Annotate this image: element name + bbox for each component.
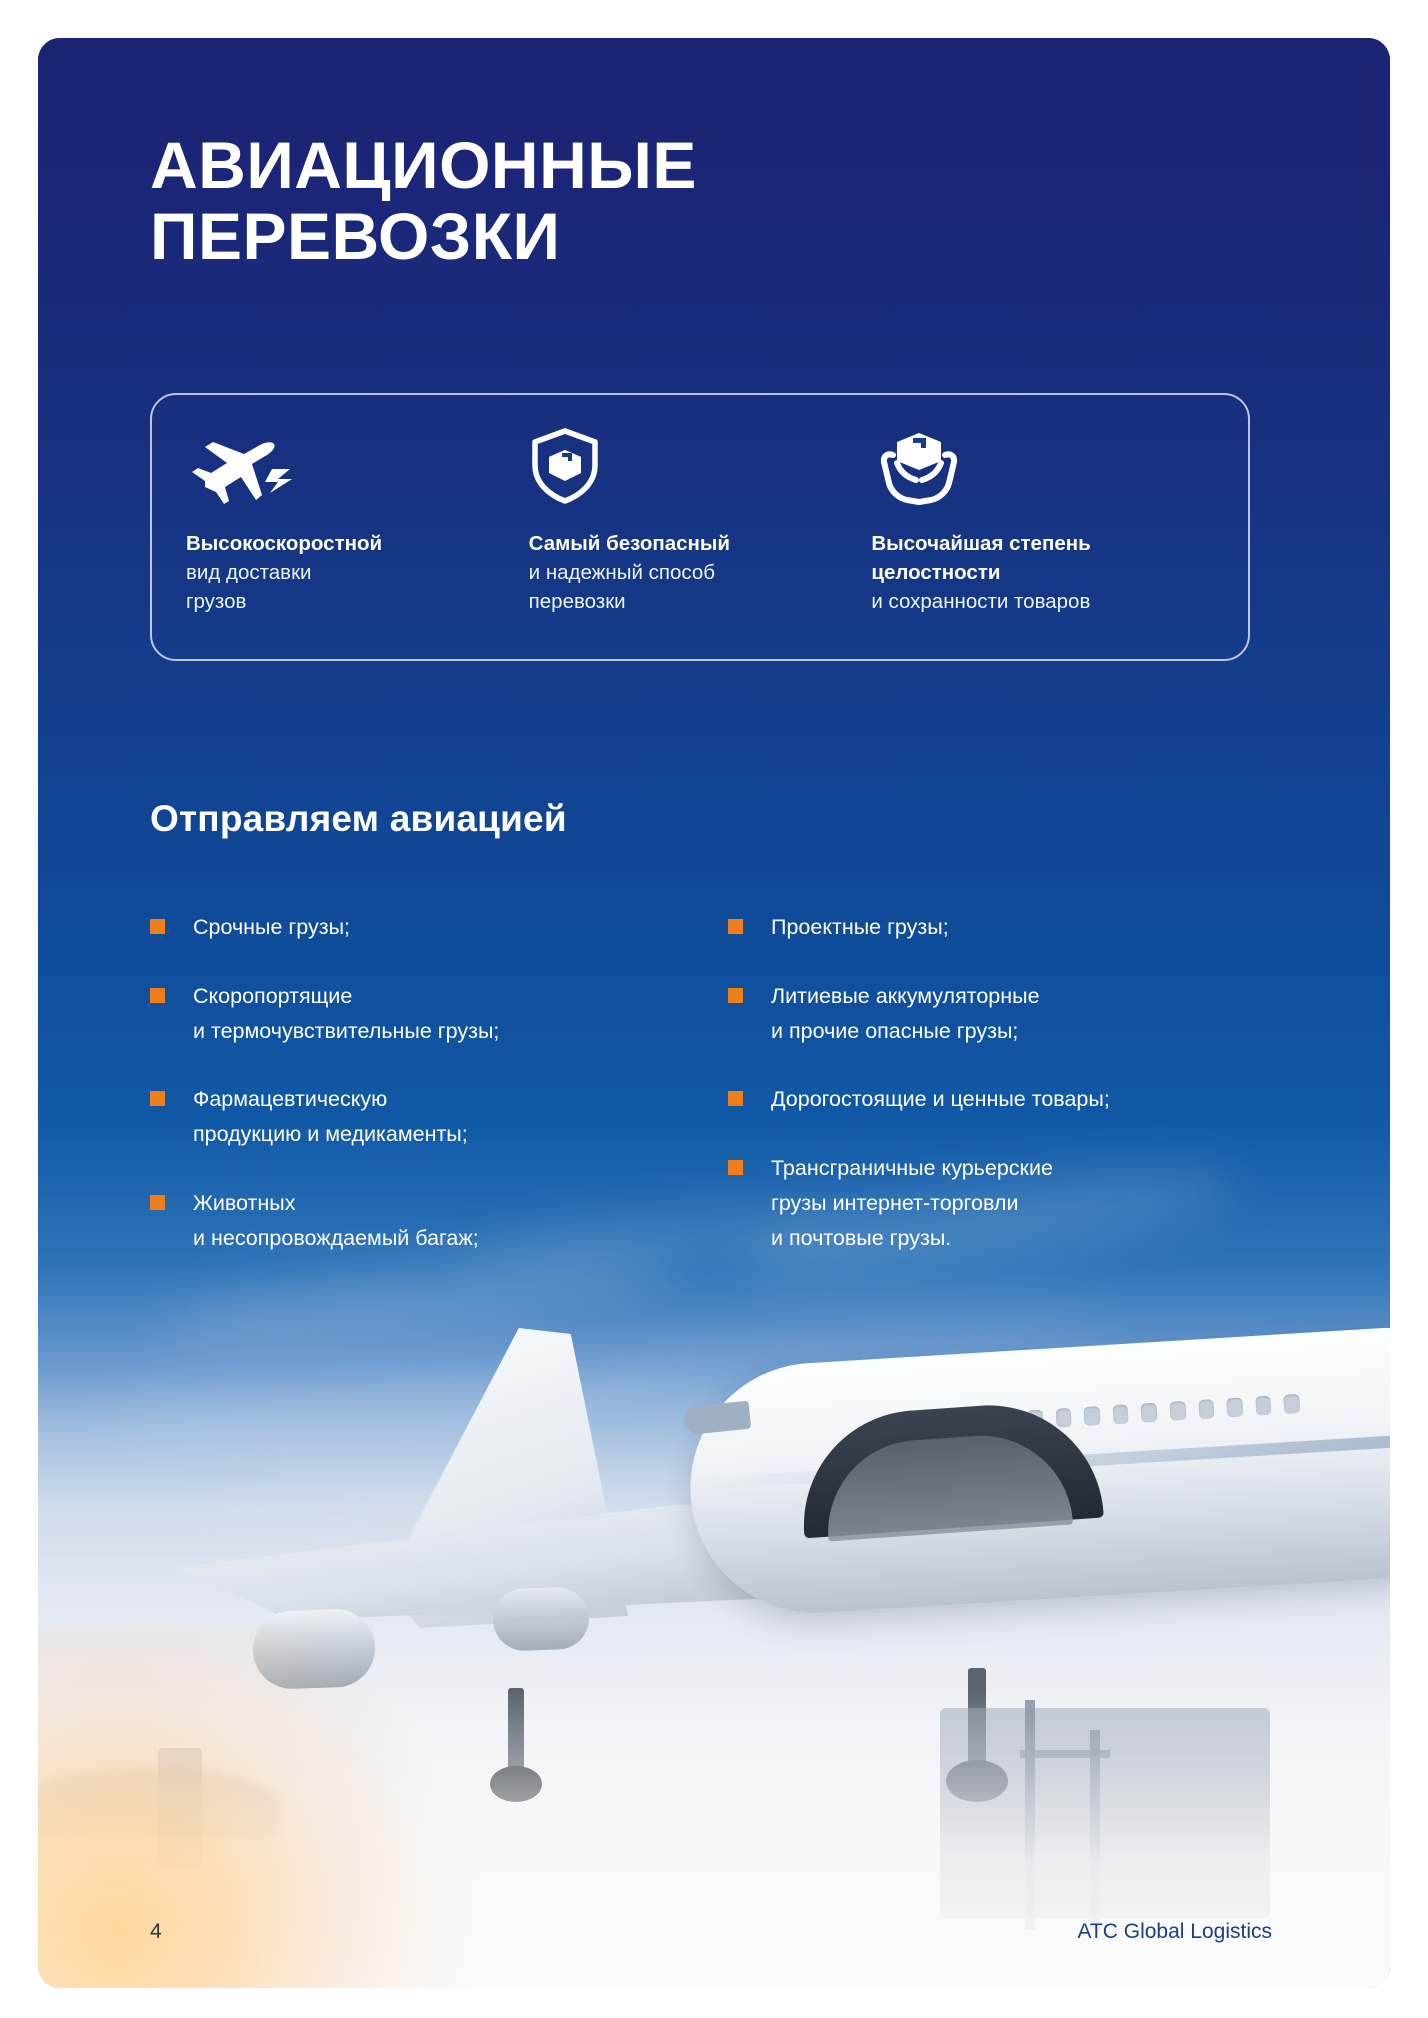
square-bullet-icon — [150, 1195, 165, 1210]
list-item: Проектные грузы; — [728, 910, 1270, 945]
feature-title: Самый безопасный — [529, 529, 850, 558]
list-item-label: Трансграничные курьерскиегрузы интернет-… — [771, 1151, 1053, 1255]
square-bullet-icon — [150, 988, 165, 1003]
feature-integrity: Высочайшая степень целостности и сохранн… — [871, 431, 1214, 629]
airplane-speed-icon — [186, 431, 507, 505]
list-item-label: Фармацевтическуюпродукцию и медикаменты; — [193, 1082, 468, 1152]
list-item-label: Дорогостоящие и ценные товары; — [771, 1082, 1110, 1117]
page-canvas: АВИАЦИОННЫЕ ПЕРЕВОЗКИ Высокоскоростной в… — [38, 38, 1390, 1988]
page-number: 4 — [150, 1920, 162, 1944]
feature-subtitle-line1: и сохранности товаров — [871, 587, 1192, 616]
list-item: Литиевые аккумуляторныеи прочие опасные … — [728, 979, 1270, 1049]
feature-safety: Самый безопасный и надежный способ перев… — [529, 431, 872, 629]
list-item-label: Литиевые аккумуляторныеи прочие опасные … — [771, 979, 1040, 1049]
page-title: АВИАЦИОННЫЕ ПЕРЕВОЗКИ — [150, 130, 970, 273]
feature-highspeed: Высокоскоростной вид доставки грузов — [186, 431, 529, 629]
square-bullet-icon — [150, 919, 165, 934]
feature-title-line2: целостности — [871, 558, 1192, 587]
list-item: Животныхи несопровождаемый багаж; — [150, 1186, 650, 1256]
page-content: АВИАЦИОННЫЕ ПЕРЕВОЗКИ Высокоскоростной в… — [38, 38, 1390, 1988]
square-bullet-icon — [728, 919, 743, 934]
cargo-types-lists: Срочные грузы;Скоропортящиеи термочувств… — [150, 910, 1270, 1290]
list-item: Трансграничные курьерскиегрузы интернет-… — [728, 1151, 1270, 1255]
feature-subtitle-line1: и надежный способ — [529, 558, 850, 587]
list-item-label: Проектные грузы; — [771, 910, 949, 945]
square-bullet-icon — [728, 1160, 743, 1175]
list-item: Скоропортящиеи термочувствительные грузы… — [150, 979, 650, 1049]
feature-subtitle-line2: грузов — [186, 587, 507, 616]
list-item: Срочные грузы; — [150, 910, 650, 945]
feature-card: Высокоскоростной вид доставки грузов Сам… — [150, 393, 1250, 661]
feature-title: Высокоскоростной — [186, 529, 507, 558]
bullet-column-left: Срочные грузы;Скоропортящиеи термочувств… — [150, 910, 650, 1290]
section-heading: Отправляем авиацией — [150, 798, 567, 840]
shield-box-icon — [529, 431, 850, 505]
brand-label: ATC Global Logistics — [1077, 1920, 1272, 1944]
bullet-column-right: Проектные грузы;Литиевые аккумуляторныеи… — [690, 910, 1270, 1290]
square-bullet-icon — [728, 1091, 743, 1106]
feature-subtitle-line2: перевозки — [529, 587, 850, 616]
list-item: Дорогостоящие и ценные товары; — [728, 1082, 1270, 1117]
square-bullet-icon — [150, 1091, 165, 1106]
hands-holding-box-icon — [871, 431, 1192, 505]
brochure-page: АВИАЦИОННЫЕ ПЕРЕВОЗКИ Высокоскоростной в… — [0, 0, 1428, 2018]
list-item: Фармацевтическуюпродукцию и медикаменты; — [150, 1082, 650, 1152]
feature-subtitle-line1: вид доставки — [186, 558, 507, 587]
list-item-label: Животныхи несопровождаемый багаж; — [193, 1186, 479, 1256]
list-item-label: Скоропортящиеи термочувствительные грузы… — [193, 979, 499, 1049]
list-item-label: Срочные грузы; — [193, 910, 350, 945]
square-bullet-icon — [728, 988, 743, 1003]
feature-title-line1: Высочайшая степень — [871, 529, 1192, 558]
